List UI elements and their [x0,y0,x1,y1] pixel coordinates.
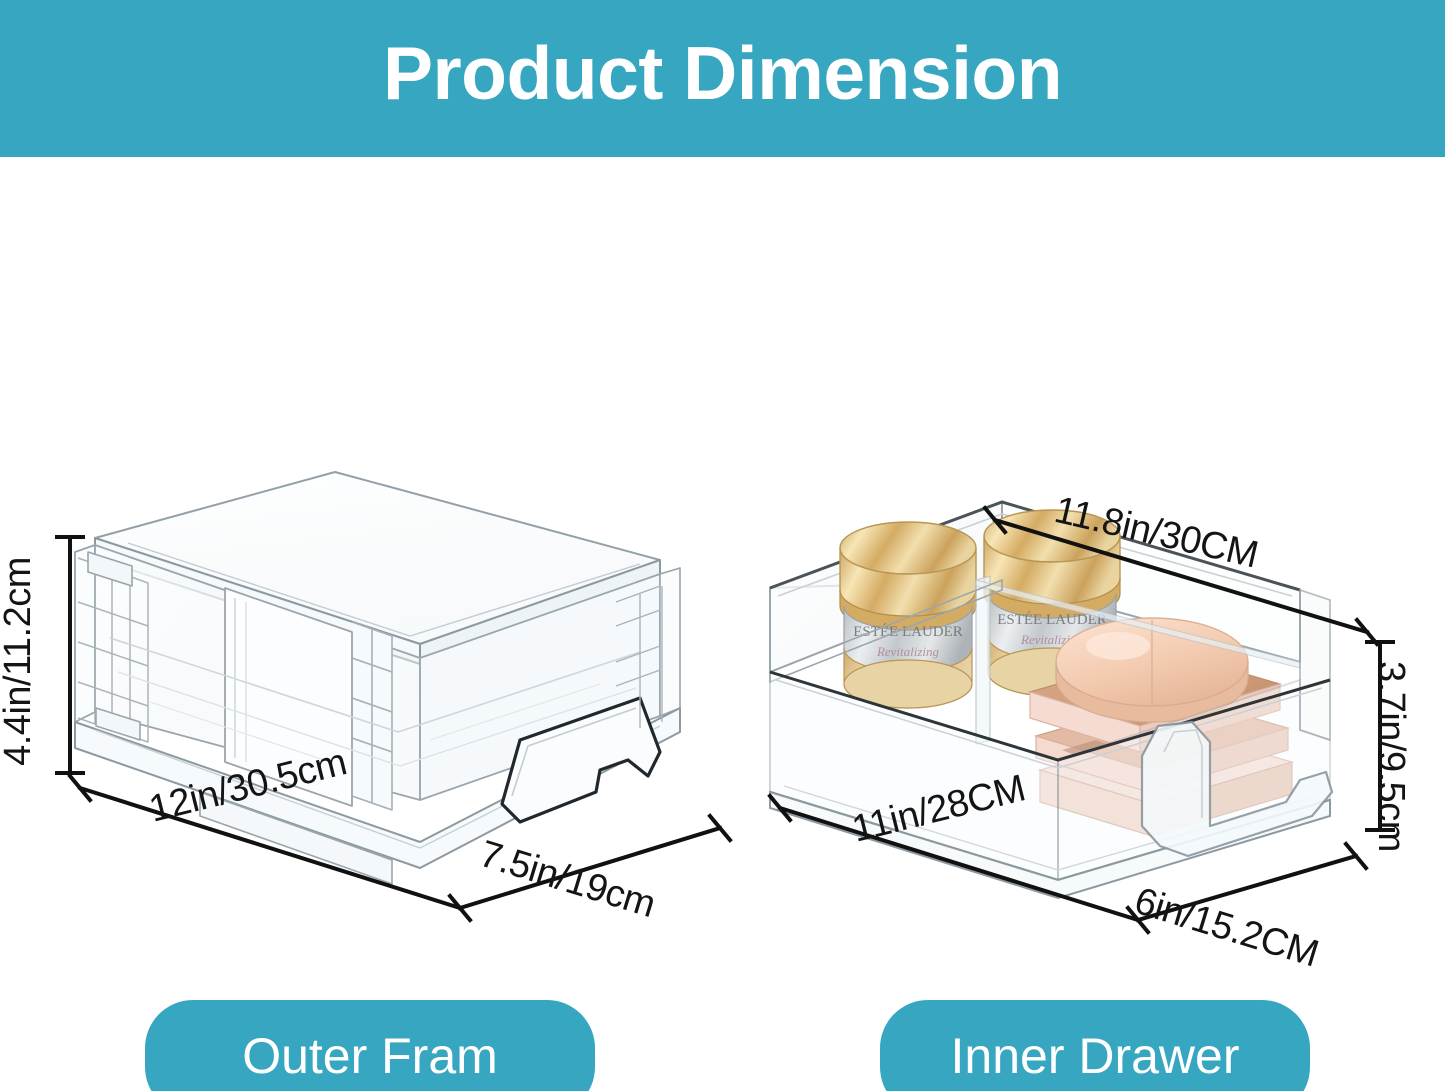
dim-line-inner-width [975,490,1395,660]
page-title: Product Dimension [0,0,1445,157]
dim-line-outer-height [68,535,72,775]
gold-cosmetic-jar-1: ESTÉE LAUDER Revitalizing [840,522,976,708]
caption-pill-inner-drawer: Inner Drawer [880,1000,1310,1091]
product-dimension-infographic: Product Dimension [0,0,1445,1091]
svg-text:ESTÉE LAUDER: ESTÉE LAUDER [853,623,963,640]
svg-text:Revitalizing: Revitalizing [876,644,940,659]
dim-label-inner-height: 3.7in/9.5cm [1369,661,1412,852]
caption-pill-outer-frame: Outer Fram [145,1000,595,1091]
dim-label-outer-height: 4.4in/11.2cm [0,557,40,766]
